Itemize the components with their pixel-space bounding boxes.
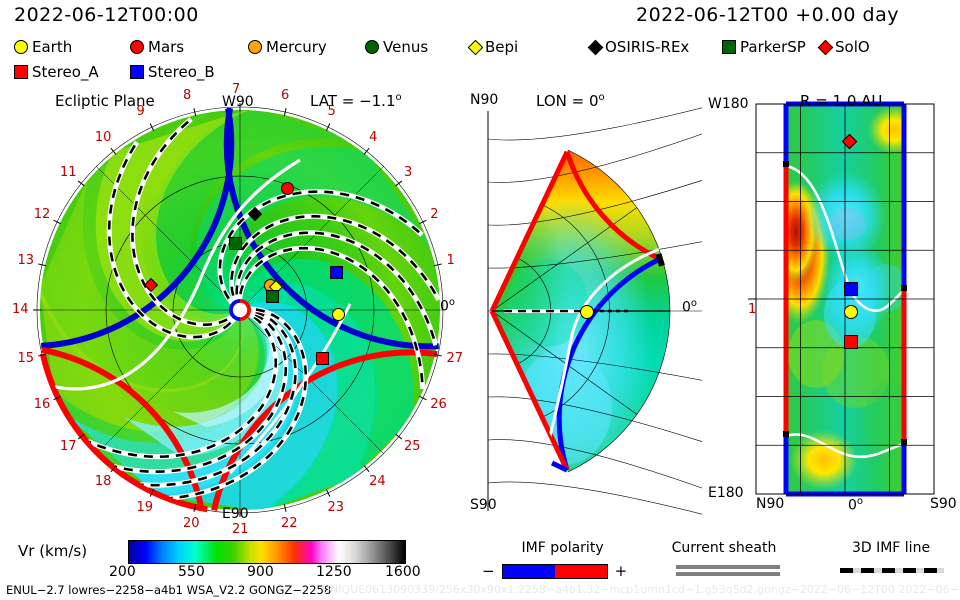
degree-sup: o: [449, 297, 455, 308]
ecliptic-tick-11: 11: [60, 165, 77, 180]
synoptic-marker-stereo-a: [844, 334, 858, 353]
degree-sup: o: [857, 496, 863, 507]
legend-item-venus: Venus: [365, 38, 428, 56]
imf-minus-sign: −: [482, 562, 495, 580]
synoptic-canvas: [700, 92, 960, 532]
earth-glyph: [844, 305, 858, 319]
synoptic-top-left-label: W180: [708, 96, 749, 112]
meridional-right-label: 0o: [682, 298, 697, 316]
synoptic-xtick-1: 0o: [848, 496, 863, 514]
imf-polarity-legend: IMF polarity − +: [498, 540, 627, 580]
ecliptic-tick-26: 26: [430, 397, 447, 412]
ecliptic-tick-14: 14: [12, 302, 29, 317]
colorbar-tick-550: 550: [178, 564, 205, 580]
venus-glyph: [365, 40, 379, 54]
meridional-title: LON = 0o: [536, 92, 605, 110]
ecliptic-tick-21: 21: [232, 522, 249, 537]
parkersp-glyph: [266, 290, 279, 303]
legend-label-earth: Earth: [32, 38, 72, 56]
synoptic-marker-solo: [844, 132, 855, 151]
synoptic-marker-earth: [844, 304, 858, 323]
mars-glyph: [130, 40, 144, 54]
legend-item-stereo-b: Stereo_B: [130, 63, 215, 81]
stereo-b-glyph: [844, 282, 858, 296]
ecliptic-marker-osiris-rex: [250, 204, 260, 223]
ecliptic-tick-4: 4: [369, 130, 377, 145]
ecliptic-zero-text: 0: [440, 299, 449, 315]
panel-ecliptic-plane: Ecliptic Plane LAT = −1.1o W90 E90 0o 12…: [0, 92, 470, 532]
ecliptic-marker-solo: [146, 275, 156, 294]
ecliptic-marker-venus: [229, 235, 242, 254]
ecliptic-marker-stereo-b: [330, 264, 343, 283]
footer-watermark: UNIQUE0613090339/256x30x90x1.2258−a4b1.3…: [322, 583, 960, 596]
degree-sup: o: [691, 298, 697, 309]
panel-meridional: N90 LON = 0o S90 0o: [462, 92, 702, 532]
ecliptic-marker-earth: [332, 306, 345, 325]
ecliptic-right-label: 0o: [440, 297, 455, 315]
legend-label-solo: SolO: [835, 38, 870, 56]
legend-label-bepi: Bepi: [485, 38, 518, 56]
footer-run-id: ENUL−2.7 lowres−2258−a4b1 WSA_V2.2 GONGZ…: [6, 583, 331, 597]
panel-synoptic: W180 R = 1.0 AU E180 1 N900oS90: [700, 92, 960, 532]
current-sheath-title: Current sheath: [668, 540, 780, 556]
meridional-lon-text: LON = 0: [536, 92, 599, 110]
ecliptic-bottom-label: E90: [222, 506, 249, 522]
earth-glyph: [580, 305, 594, 319]
imf-polarity-title: IMF polarity: [498, 540, 627, 556]
synoptic-xtick-text-1: 0: [848, 498, 857, 514]
meridional-zero-text: 0: [682, 300, 691, 316]
imf-polarity-bar: [502, 564, 608, 579]
ecliptic-tick-20: 20: [183, 516, 200, 531]
solo-glyph: [143, 277, 157, 291]
ecliptic-tick-5: 5: [327, 104, 335, 119]
legend-item-bepi: Bepi: [470, 38, 518, 56]
ecliptic-tick-8: 8: [183, 88, 191, 103]
mars-glyph: [281, 182, 294, 195]
imf-line-legend: 3D IMF line: [838, 540, 944, 573]
ecliptic-subtitle: LAT = −1.1o: [310, 92, 402, 110]
ecliptic-lat-text: LAT = −1.1: [310, 92, 396, 110]
stereo-a-glyph: [316, 352, 329, 365]
legend-label-stereo-a: Stereo_A: [32, 63, 99, 81]
synoptic-bottom-left-label: E180: [708, 485, 744, 501]
earth-glyph: [14, 40, 28, 54]
ecliptic-tick-19: 19: [137, 500, 154, 515]
legend-label-stereo-b: Stereo_B: [148, 63, 215, 81]
current-sheath-legend: Current sheath: [668, 540, 780, 576]
solo-glyph: [842, 134, 858, 150]
ecliptic-tick-22: 22: [281, 516, 298, 531]
osiris-rex-glyph: [588, 39, 604, 55]
imf-line-sample: [840, 568, 944, 573]
legend-item-mercury: Mercury: [248, 38, 327, 56]
legend-label-mercury: Mercury: [266, 38, 327, 56]
current-sheath-line-bottom: [676, 572, 780, 576]
ecliptic-tick-18: 18: [95, 474, 112, 489]
legend-row-secondary: Stereo_AStereo_B: [14, 63, 414, 83]
ecliptic-marker-parkersp: [266, 288, 279, 307]
ecliptic-marker-stereo-a: [316, 350, 329, 369]
ecliptic-tick-3: 3: [404, 165, 412, 180]
meridional-marker-earth: [580, 304, 594, 323]
legend-label-parkersp: ParkerSP: [740, 38, 806, 56]
colorbar-tick-900: 900: [247, 564, 274, 580]
parkersp-glyph: [722, 40, 736, 54]
polarity-negative-swatch: [503, 565, 555, 578]
colorbar-ticks: 20055090012501600: [128, 564, 404, 584]
degree-sup: o: [599, 92, 605, 103]
legend-item-mars: Mars: [130, 38, 184, 56]
imf-plus-sign: +: [615, 562, 628, 580]
legend-label-osiris-rex: OSIRIS-REx: [605, 38, 689, 56]
ecliptic-tick-24: 24: [369, 474, 386, 489]
osiris-rex-glyph: [247, 206, 261, 220]
mercury-glyph: [248, 40, 262, 54]
stereo-b-glyph: [130, 65, 144, 79]
synoptic-title: R = 1.0 AU: [800, 92, 882, 110]
meridional-bottom-label: S90: [470, 497, 497, 513]
ecliptic-tick-23: 23: [327, 500, 344, 515]
synoptic-marker-stereo-b: [844, 281, 858, 300]
stereo-a-glyph: [844, 335, 858, 349]
ecliptic-tick-7: 7: [232, 82, 240, 97]
colorbar-tick-200: 200: [109, 564, 136, 580]
stereo-b-glyph: [330, 266, 343, 279]
figure-root: 2022-06-12T00:00 2022-06-12T00 +0.00 day…: [0, 0, 960, 600]
legend-label-venus: Venus: [383, 38, 428, 56]
header-left-timestamp: 2022-06-12T00:00: [14, 4, 199, 26]
header-right-timestamp: 2022-06-12T00 +0.00 day: [636, 4, 899, 26]
synoptic-xtick-text-0: N90: [756, 496, 784, 512]
stereo-a-glyph: [14, 65, 28, 79]
legend-item-stereo-a: Stereo_A: [14, 63, 99, 81]
synoptic-xtick-2: S90: [930, 496, 957, 512]
imf-line-title: 3D IMF line: [838, 540, 944, 556]
legend-row-primary: EarthMarsMercuryVenusBepiOSIRIS-RExParke…: [14, 38, 954, 58]
ecliptic-canvas: [0, 92, 470, 532]
colorbar-tick-1600: 1600: [385, 564, 421, 580]
legend-item-solo: SolO: [820, 38, 870, 56]
ecliptic-tick-9: 9: [137, 104, 145, 119]
colorbar-label: Vr (km/s): [18, 542, 87, 560]
synoptic-xtick-0: N90: [756, 496, 784, 512]
legend-item-osiris-rex: OSIRIS-REx: [590, 38, 689, 56]
degree-sup: o: [396, 92, 402, 103]
polarity-positive-swatch: [555, 565, 607, 578]
synoptic-y-tick: 1: [748, 302, 756, 317]
synoptic-xtick-text-2: S90: [930, 496, 957, 512]
ecliptic-tick-16: 16: [34, 397, 51, 412]
ecliptic-tick-25: 25: [404, 439, 421, 454]
ecliptic-tick-13: 13: [18, 253, 35, 268]
legend-item-parkersp: ParkerSP: [722, 38, 806, 56]
legend-label-mars: Mars: [148, 38, 184, 56]
ecliptic-tick-1: 1: [446, 253, 454, 268]
colorbar-tick-1250: 1250: [316, 564, 352, 580]
bepi-glyph: [468, 39, 484, 55]
current-sheath-line-top: [676, 565, 780, 569]
ecliptic-tick-2: 2: [430, 207, 438, 222]
ecliptic-tick-17: 17: [60, 439, 77, 454]
ecliptic-tick-27: 27: [446, 351, 463, 366]
solo-glyph: [818, 39, 834, 55]
ecliptic-marker-mars: [281, 180, 294, 199]
colorbar-gradient: [128, 540, 406, 564]
meridional-top-label: N90: [470, 92, 498, 108]
venus-glyph: [229, 237, 242, 250]
earth-glyph: [332, 308, 345, 321]
ecliptic-tick-6: 6: [281, 88, 289, 103]
ecliptic-tick-10: 10: [95, 130, 112, 145]
legend-item-earth: Earth: [14, 38, 72, 56]
ecliptic-tick-15: 15: [18, 351, 35, 366]
ecliptic-tick-12: 12: [34, 207, 51, 222]
